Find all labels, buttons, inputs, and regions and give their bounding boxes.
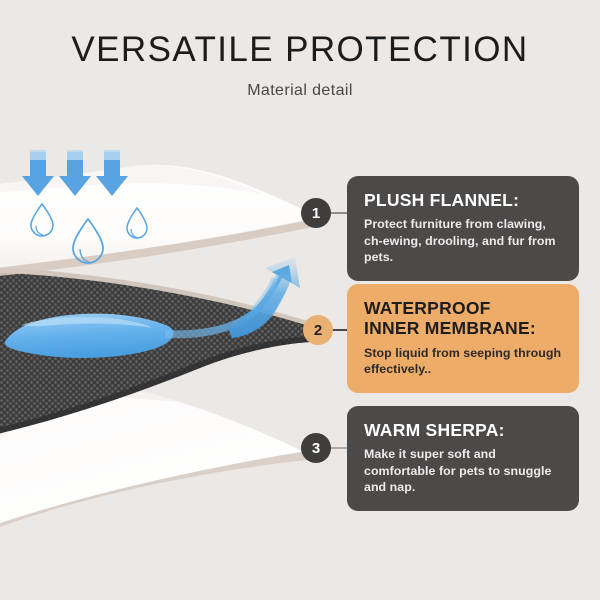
callout-box-plush-flannel[interactable]: PLUSH FLANNEL: Protect furniture from cl… (347, 176, 579, 281)
callout-title-2: WATERPROOF INNER MEMBRANE: (364, 298, 563, 339)
callout-box-waterproof-membrane[interactable]: WATERPROOF INNER MEMBRANE: Stop liquid f… (347, 284, 579, 393)
callout-badge-1[interactable]: 1 (301, 198, 331, 228)
callout-badge-3[interactable]: 3 (301, 433, 331, 463)
callout-body-2: Stop liquid from seeping through effecti… (364, 345, 563, 378)
callout-body-3: Make it super soft and comfortable for p… (364, 446, 563, 496)
callout-badge-2[interactable]: 2 (303, 315, 333, 345)
callout-body-1: Protect furniture from clawing, ch-ewing… (364, 216, 563, 266)
plush-flannel-layer (0, 150, 318, 278)
infographic-root: VERSATILE PROTECTION Material detail (0, 0, 600, 600)
callout-title-3: WARM SHERPA: (364, 420, 563, 440)
callout-box-warm-sherpa[interactable]: WARM SHERPA: Make it super soft and comf… (347, 406, 579, 511)
callout-title-1: PLUSH FLANNEL: (364, 190, 563, 210)
